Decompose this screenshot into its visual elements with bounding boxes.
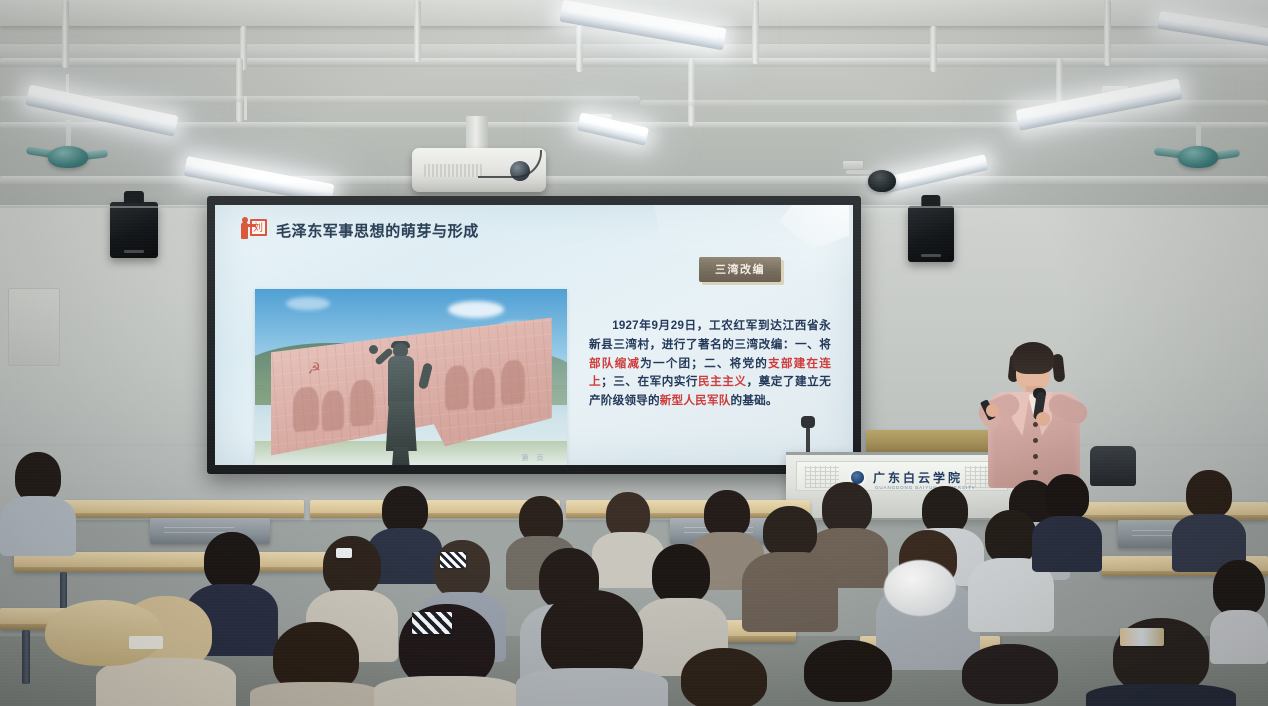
student-head <box>1213 560 1265 616</box>
statue-torso <box>388 356 414 408</box>
student-head <box>382 486 428 534</box>
student-head <box>962 644 1058 704</box>
student-torso <box>0 496 76 556</box>
ceiling-pipe <box>1104 0 1111 66</box>
screen-glare <box>779 205 849 249</box>
bucket-hat <box>45 600 163 666</box>
fan-stem <box>66 120 71 148</box>
speaker-logo <box>124 250 144 253</box>
speaker-bracket <box>124 191 144 203</box>
relief-figure <box>349 378 373 426</box>
microphone-stand <box>806 424 810 454</box>
statue-legs <box>391 447 411 465</box>
student-head <box>204 532 260 590</box>
student-head <box>922 486 968 534</box>
presenter-teacher <box>976 338 1094 488</box>
presenter-hand-right <box>1036 412 1050 426</box>
projector-vent <box>424 164 482 177</box>
fur-collar <box>884 560 956 616</box>
student-head <box>323 536 381 596</box>
body-line-4a: 将党的 <box>730 357 768 370</box>
student-head <box>763 506 817 558</box>
student <box>658 648 790 706</box>
body-line-6b: 的基础。 <box>731 394 778 407</box>
camera-arm <box>846 170 872 174</box>
student-head <box>681 648 767 706</box>
student <box>250 622 382 706</box>
relief-figure <box>445 364 469 410</box>
student-desk <box>46 500 304 518</box>
desk-leg <box>22 630 30 684</box>
slide-header: 毛泽东军事思想的萌芽与形成 <box>241 219 479 241</box>
ceiling-beam <box>0 176 1268 184</box>
highlight-phrase-1: 部队缩减 <box>589 357 640 370</box>
student-head <box>1045 474 1089 520</box>
light-rod <box>244 96 247 120</box>
projector-mount <box>466 116 488 152</box>
ceiling-pipe <box>576 26 583 72</box>
coat-button <box>1033 438 1038 443</box>
student <box>778 640 918 706</box>
student-torso <box>742 552 838 632</box>
slide-page-number: 第 页 <box>522 453 547 463</box>
student <box>930 644 1090 706</box>
slide-title: 毛泽东军事思想的萌芽与形成 <box>276 220 479 241</box>
hat-label <box>129 636 163 649</box>
highlight-phrase-3: 民主主义 <box>698 375 746 388</box>
student-torso <box>1210 610 1268 664</box>
student <box>1032 474 1102 570</box>
person-arm-shape <box>247 224 256 227</box>
fan-stem <box>1196 122 1201 148</box>
student-head <box>15 452 61 502</box>
highlight-phrase-4: 新型人民军队 <box>660 394 731 407</box>
coat-button <box>1033 454 1038 459</box>
student-head <box>434 540 490 598</box>
ceiling-beam <box>0 58 1268 67</box>
wall-speaker-right <box>908 206 954 262</box>
blackboard-shape <box>250 219 267 236</box>
wall-vent <box>842 160 864 170</box>
classroom-photo: 毛泽东军事思想的萌芽与形成 三湾改编 <box>0 0 1268 706</box>
relief-figure <box>501 358 525 404</box>
body-line-1: 1927年9月29日，工农红军到达江 <box>612 319 795 332</box>
body-line-3b: 为一个团；二、 <box>640 357 730 370</box>
wall-panel <box>8 288 60 366</box>
hammer-sickle-emblem: ☭ <box>307 360 323 378</box>
hair-clip <box>412 612 452 634</box>
microphone-head <box>801 416 815 428</box>
presenter-hand-left <box>986 404 999 417</box>
slide-photo: ☭ 江西永新县三湾改编纪念馆 <box>255 289 567 465</box>
slide-section-badge: 三湾改编 <box>699 257 781 282</box>
statue-coat <box>386 401 417 451</box>
hair-clip <box>440 552 466 568</box>
projection-screen: 毛泽东军事思想的萌芽与形成 三湾改编 <box>215 205 853 465</box>
student-head <box>985 510 1037 564</box>
student-torso <box>374 676 520 706</box>
ceiling-conduit <box>640 100 1268 106</box>
relief-figure <box>321 389 343 431</box>
relief-figure <box>473 366 495 410</box>
student <box>516 590 668 706</box>
speaker-logo <box>921 254 941 257</box>
projection-screen-frame: 毛泽东军事思想的萌芽与形成 三湾改编 <box>207 196 861 474</box>
student-torso <box>1086 684 1236 706</box>
body-line-3a: 改编：一、将 <box>759 338 831 351</box>
ceiling-pipe <box>62 0 69 68</box>
student-torso <box>250 682 382 706</box>
body-line-4b: ；三、在军内实行 <box>601 375 698 388</box>
hair-clip <box>336 548 352 558</box>
student-torso <box>1032 516 1102 572</box>
wall-speaker-left <box>110 202 158 258</box>
teacher-blackboard-icon <box>241 219 267 241</box>
student-head <box>541 590 643 680</box>
slide-body-text: 1927年9月29日，工农红军到达江西省永新县三湾村，进行了著名的三湾改编：一、… <box>589 317 831 411</box>
ceiling-slab <box>0 44 1268 58</box>
mao-statue <box>380 343 426 465</box>
ceiling-pipe <box>236 58 243 122</box>
person-head-shape <box>242 217 248 223</box>
student <box>1210 560 1268 660</box>
hair-clip <box>1120 628 1164 646</box>
ceiling-fan <box>1178 146 1218 168</box>
ceiling-pipe <box>688 58 695 126</box>
ceiling-pipe <box>414 0 421 62</box>
student <box>0 452 76 552</box>
student <box>1172 470 1246 570</box>
student <box>742 506 838 630</box>
student-head <box>804 640 892 702</box>
dome-security-camera <box>868 170 896 192</box>
statue-hand <box>369 345 378 354</box>
ceiling-pipe <box>752 0 759 64</box>
student-head <box>1186 470 1232 518</box>
ceiling-fan <box>48 146 88 168</box>
student-torso <box>516 668 668 706</box>
ceiling-pipe <box>930 26 937 72</box>
presenter-hair <box>1012 342 1054 374</box>
relief-figure <box>293 386 319 433</box>
